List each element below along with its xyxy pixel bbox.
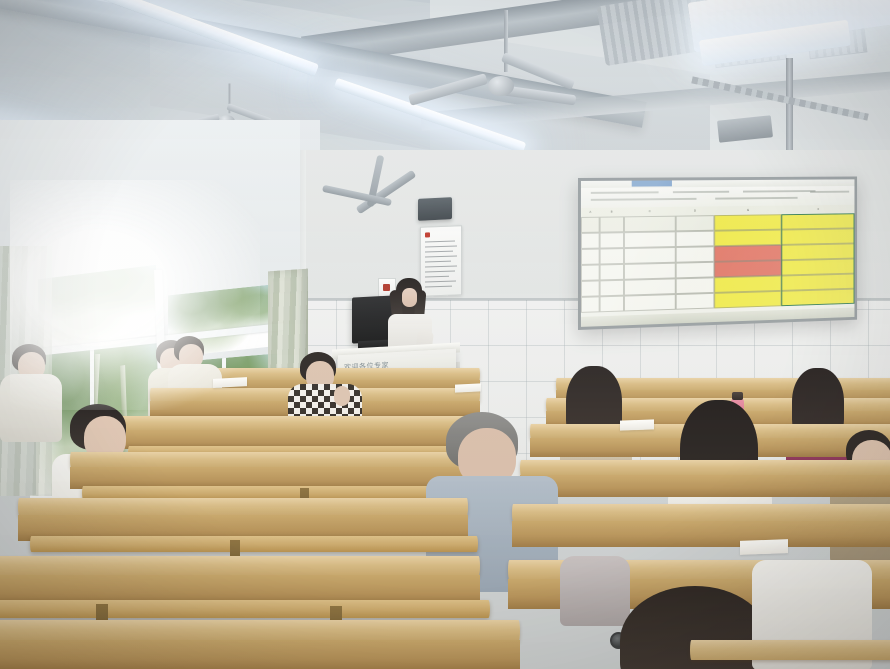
spreadsheet-cell[interactable] [600, 280, 624, 297]
spreadsheet-cell[interactable] [600, 248, 624, 264]
spreadsheet-cell[interactable] [714, 291, 782, 309]
spreadsheet-cell[interactable] [600, 296, 624, 313]
spreadsheet-cell[interactable] [581, 217, 600, 233]
spreadsheet-cell[interactable] [600, 264, 624, 280]
spreadsheet-cell[interactable] [581, 296, 600, 313]
spreadsheet-cell[interactable] [676, 231, 714, 247]
spreadsheet-cell[interactable] [624, 263, 676, 280]
spreadsheet-cell[interactable] [714, 245, 782, 262]
projected-spreadsheet: ABCDEF [581, 179, 854, 327]
spreadsheet-cell[interactable] [714, 260, 782, 277]
paper-sheet [213, 377, 247, 388]
outside-foliage [38, 265, 156, 349]
spreadsheet-cell[interactable] [624, 247, 676, 264]
poster-red-mark [425, 232, 430, 237]
paper-sheet [455, 383, 481, 392]
spreadsheet-cell[interactable] [581, 280, 600, 296]
lecture-hall-photo: ABCDEF 欢迎各位专家 [0, 0, 890, 669]
spreadsheet-col-header[interactable]: A [581, 208, 600, 217]
paper-sheet [620, 419, 654, 430]
spreadsheet-col-header[interactable]: B [600, 207, 624, 216]
spreadsheet-cell[interactable] [581, 264, 600, 280]
window-pane-upper-left [38, 265, 156, 349]
presenter-face [402, 288, 417, 307]
spreadsheet-cell[interactable] [676, 277, 714, 294]
spreadsheet-cell[interactable] [624, 216, 676, 233]
water-bottle-cap [732, 392, 743, 400]
wall-speaker [418, 197, 452, 221]
spreadsheet-cell[interactable] [600, 232, 624, 248]
spreadsheet-cell[interactable] [600, 216, 624, 232]
attendee-hand [334, 386, 350, 406]
spreadsheet-cell[interactable] [714, 214, 782, 230]
paper-sheet [740, 539, 788, 555]
spreadsheet-grid[interactable] [581, 213, 854, 317]
spreadsheet-selection[interactable] [782, 213, 855, 306]
window-wall [0, 120, 300, 380]
projection-screen[interactable]: ABCDEF [578, 177, 857, 330]
spreadsheet-active-tab[interactable] [632, 180, 672, 186]
spreadsheet-cell[interactable] [676, 215, 714, 231]
spreadsheet-cell[interactable] [624, 278, 676, 295]
spreadsheet-cell[interactable] [624, 231, 676, 248]
spreadsheet-cell[interactable] [581, 233, 600, 249]
spreadsheet-cell[interactable] [676, 246, 714, 262]
spreadsheet-cell[interactable] [581, 249, 600, 265]
spreadsheet-cell[interactable] [676, 293, 714, 310]
spreadsheet-cell[interactable] [624, 294, 676, 311]
spreadsheet-cell[interactable] [676, 262, 714, 279]
spreadsheet-cell[interactable] [714, 230, 782, 247]
